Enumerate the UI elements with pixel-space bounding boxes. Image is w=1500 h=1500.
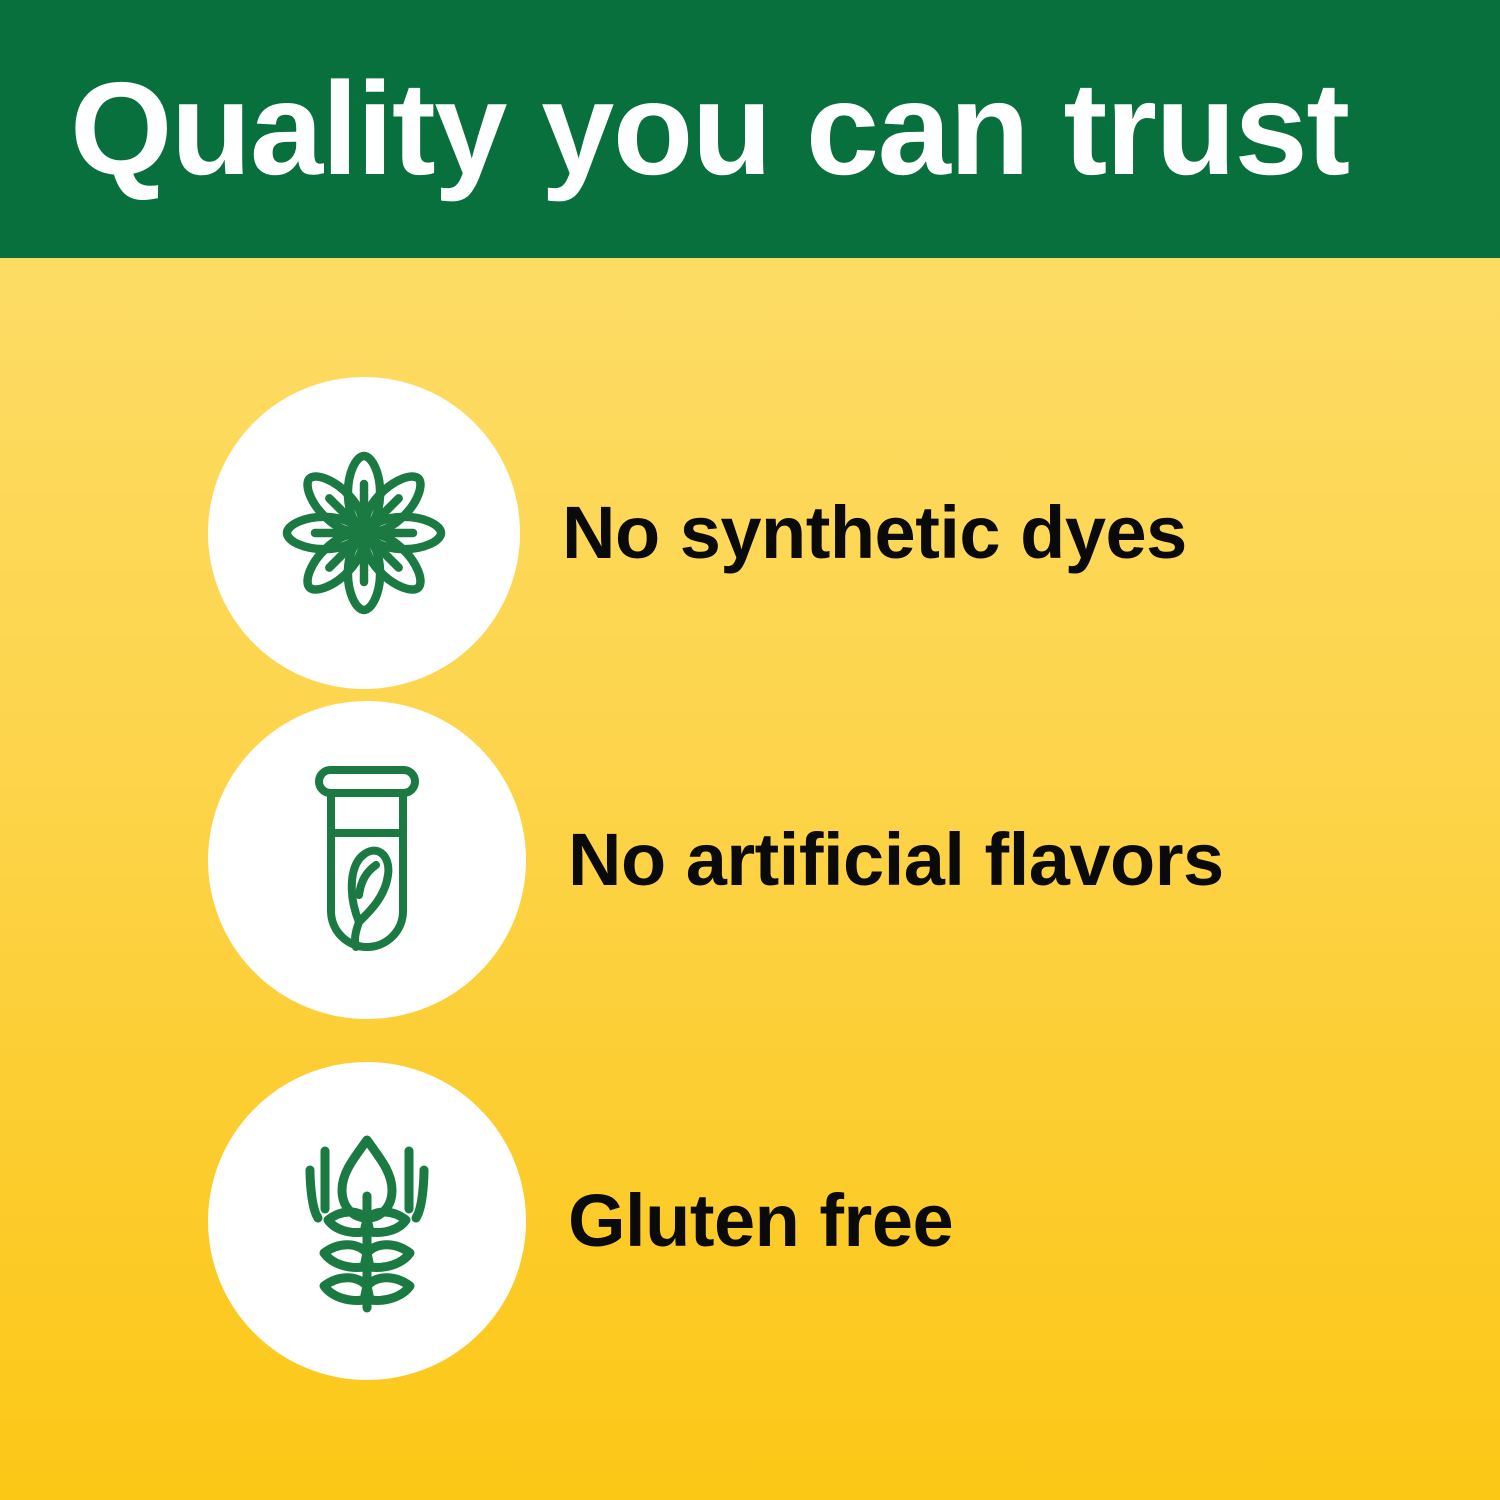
feature-label: No synthetic dyes — [562, 496, 1187, 570]
wheat-stalk-icon — [252, 1106, 482, 1336]
feature-label: Gluten free — [568, 1184, 953, 1258]
feature-list: No synthetic dyes — [0, 258, 1500, 1500]
icon-badge-gluten-free — [208, 1062, 526, 1380]
test-tube-leaf-icon — [252, 745, 482, 975]
icon-badge-no-artificial-flavors — [208, 701, 526, 1019]
icon-badge-no-synthetic-dyes — [208, 377, 520, 689]
feature-row: No artificial flavors — [0, 700, 1500, 1020]
quality-badge-graphic: Quality you can trust — [0, 0, 1500, 1500]
feature-label: No artificial flavors — [568, 823, 1224, 897]
header-banner: Quality you can trust — [0, 0, 1500, 258]
page-title: Quality you can trust — [70, 63, 1442, 195]
feature-row: Gluten free — [0, 1058, 1500, 1383]
flower-petals-icon — [249, 418, 479, 648]
feature-row: No synthetic dyes — [0, 373, 1500, 693]
